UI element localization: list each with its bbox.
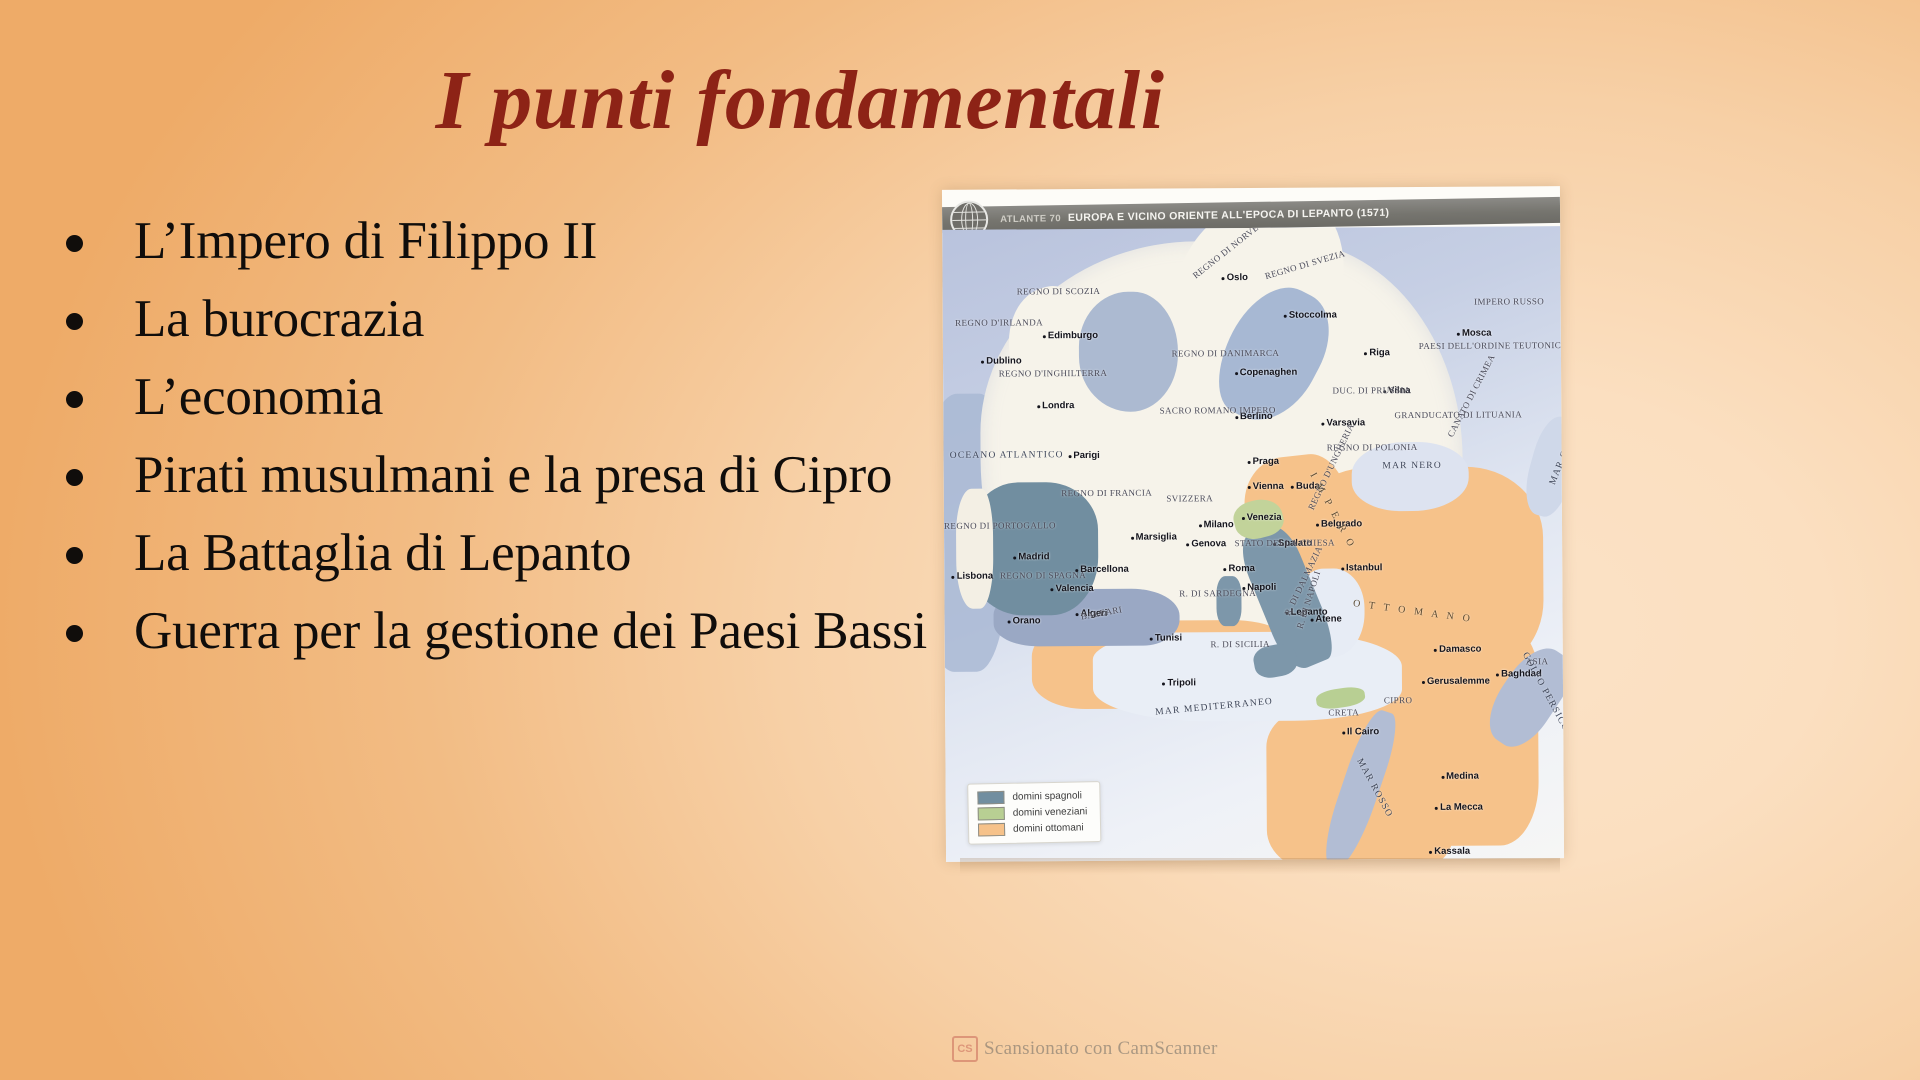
city-dot-icon [1273, 543, 1276, 546]
bullet-text: La Battaglia di Lepanto [134, 524, 631, 582]
bullet-text: Guerra per la gestione dei Paesi Bassi [134, 602, 927, 660]
legend-swatch [977, 791, 1004, 805]
city-dot-icon [1037, 405, 1040, 408]
city-dot-icon [1186, 543, 1189, 546]
city-dot-icon [1383, 390, 1386, 393]
legend-label: domini ottomani [1013, 822, 1084, 834]
page-title: I punti fondamentali [0, 52, 1600, 149]
bullet-text: L’economia [134, 368, 383, 426]
city-dot-icon [1441, 775, 1444, 778]
legend-swatch [978, 823, 1005, 837]
legend-swatch [978, 807, 1005, 821]
city-dot-icon [1322, 422, 1325, 425]
city-dot-icon [1199, 524, 1202, 527]
legend-label: domini spagnoli [1012, 790, 1082, 802]
map-banner-title: EUROPA E VICINO ORIENTE ALL'EPOCA DI LEP… [1068, 207, 1390, 224]
city-dot-icon [1008, 620, 1011, 623]
bullet-item: La burocrazia [56, 283, 936, 356]
map-legend: domini spagnolidomini venezianidomini ot… [967, 781, 1101, 845]
bullet-dot-icon [66, 469, 83, 486]
bullet-item: La Battaglia di Lepanto [56, 517, 936, 590]
legend-label: domini veneziani [1013, 806, 1088, 818]
city-dot-icon [1248, 486, 1251, 489]
bullet-dot-icon [66, 625, 83, 642]
camscanner-badge-icon: CS [952, 1036, 978, 1062]
city-dot-icon [1235, 416, 1238, 419]
map-bottom-shadow [960, 858, 1560, 874]
map-region-label: PAESI DELL'ORDINE TEUTONICO [1419, 340, 1564, 351]
city-dot-icon [981, 361, 984, 364]
bullet-text: La burocrazia [134, 290, 424, 348]
map-region-label: IMPERO RUSSO [1474, 296, 1544, 306]
map-atlas-number: ATLANTE 70 [1000, 213, 1061, 225]
city-dot-icon [1316, 523, 1319, 526]
bullet-dot-icon [66, 391, 83, 408]
city-dot-icon [1068, 455, 1071, 458]
bullet-dot-icon [66, 313, 83, 330]
map-canvas: OsloStoccolmaEdimburgoDublinoCopenaghenR… [942, 226, 1564, 862]
city-dot-icon [1457, 333, 1460, 336]
city-dot-icon [1342, 732, 1345, 735]
bullet-dot-icon [66, 235, 83, 252]
city-dot-icon [1422, 681, 1425, 684]
legend-row: domini ottomani [978, 821, 1088, 836]
city-dot-icon [1310, 618, 1313, 621]
bullet-item: Guerra per la gestione dei Paesi Bassi [56, 595, 936, 668]
north-sea-shape [1079, 292, 1179, 413]
city-dot-icon [1341, 567, 1344, 570]
legend-row: domini veneziani [978, 805, 1088, 820]
legend-row: domini spagnoli [977, 789, 1087, 804]
bullet-text: Pirati musulmani e la presa di Cipro [134, 446, 892, 504]
portugal-shape [956, 489, 994, 609]
presentation-slide: I punti fondamentali L’Impero di Filippo… [0, 0, 1920, 1080]
bullet-dot-icon [66, 547, 83, 564]
bullet-item: L’economia [56, 361, 936, 434]
bullet-item: Pirati musulmani e la presa di Cipro [56, 439, 936, 512]
city-dot-icon [1248, 461, 1251, 464]
bullet-text: L’Impero di Filippo II [134, 212, 597, 270]
city-dot-icon [1242, 587, 1245, 590]
bullet-list: L’Impero di Filippo IILa burocraziaL’eco… [56, 205, 936, 673]
black-sea-shape [1351, 442, 1469, 512]
map-city-label: Mosca [1462, 328, 1492, 339]
camscanner-watermark: CS Scansionato con CamScanner [952, 1036, 1218, 1062]
sardinia-domain-shape [1216, 576, 1241, 627]
camscanner-watermark-text: Scansionato con CamScanner [984, 1038, 1218, 1060]
city-dot-icon [1235, 372, 1238, 375]
city-dot-icon [1075, 569, 1078, 572]
bullet-item: L’Impero di Filippo II [56, 205, 936, 278]
map-image: ATLANTE 70EUROPA E VICINO ORIENTE ALL'EP… [942, 186, 1564, 862]
map-banner-text: ATLANTE 70EUROPA E VICINO ORIENTE ALL'EP… [1000, 207, 1389, 225]
